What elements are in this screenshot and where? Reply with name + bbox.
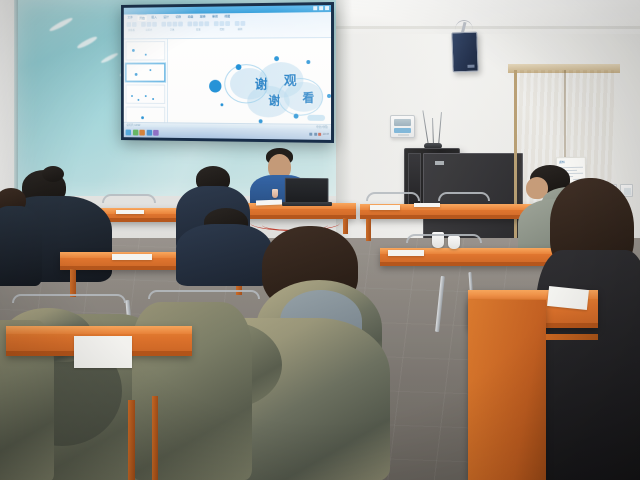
ribbon-tab-2[interactable]: 插入 <box>149 14 158 21</box>
ribbon-group-3-label: 段落 <box>196 27 200 31</box>
desk-paper-foreground <box>74 336 132 368</box>
ribbon-tab-3[interactable]: 设计 <box>161 14 170 21</box>
laptop-keyboard[interactable] <box>282 202 332 206</box>
ribbon-group-0-label: 剪贴板 <box>128 28 135 32</box>
attendee-far-left-edge <box>0 188 38 284</box>
slide-thumbnail-2[interactable] <box>126 63 166 82</box>
ribbon-group-1[interactable]: 幻灯片 <box>141 22 157 32</box>
door-notice-title: 通知 <box>559 160 565 164</box>
slide-thumbnail-3[interactable] <box>126 84 166 103</box>
thermostat-panel[interactable] <box>390 115 415 138</box>
slide-word-3: 看 <box>302 89 314 106</box>
laptop-screen[interactable] <box>285 178 329 204</box>
ribbon-groups: 剪贴板 幻灯片 字体 段落 <box>127 20 329 32</box>
ribbon-group-4[interactable]: 绘图 <box>214 21 230 31</box>
attendee-torso <box>0 206 42 286</box>
ribbon-tab-5[interactable]: 动画 <box>186 14 195 21</box>
ribbon-tab-1[interactable]: 开始 <box>138 14 147 21</box>
ceiling-edge <box>330 26 640 29</box>
ribbon-tab-7[interactable]: 审阅 <box>210 13 219 20</box>
attendee-hair-bun <box>42 166 64 182</box>
ribbon-tab-8[interactable]: 视图 <box>222 13 232 20</box>
slide-canvas[interactable]: 谢 观 谢 看 <box>168 38 331 129</box>
taskbar-system-tray[interactable]: 10:47 <box>309 133 329 136</box>
chair-row1-b[interactable] <box>368 194 418 226</box>
desk-leg <box>152 396 158 480</box>
chair-foreground-right[interactable] <box>150 292 258 332</box>
slide-word-1: 观 <box>284 70 297 89</box>
slide-thumbnail-1[interactable] <box>126 41 166 60</box>
ribbon-group-3[interactable]: 段落 <box>188 21 210 31</box>
ribbon-group-2[interactable]: 字体 <box>161 22 182 32</box>
taskbar-clock: 10:47 <box>323 133 329 136</box>
slide-footer-pill <box>307 115 325 121</box>
attendee-black-coat <box>540 178 640 480</box>
chair-row1-c[interactable] <box>440 194 488 226</box>
ribbon-group-4-label: 绘图 <box>220 27 225 31</box>
chair-foreground-left[interactable] <box>14 296 124 336</box>
slide-word-2: 谢 <box>268 92 280 109</box>
presenter-paper <box>256 200 282 206</box>
slide-thumbnail-panel[interactable] <box>124 39 168 127</box>
desk-paper <box>547 286 589 310</box>
attendee-torso <box>536 250 640 480</box>
ribbon-group-5-label: 编辑 <box>238 27 243 31</box>
taskbar-app-buttons[interactable] <box>126 129 159 135</box>
meeting-room-photo: 文件 开始 插入 设计 切换 动画 放映 审阅 视图 剪贴板 <box>0 0 640 480</box>
desk-paper <box>112 254 152 260</box>
ribbon-group-0[interactable]: 剪贴板 <box>127 22 137 32</box>
desk-leg <box>70 269 76 297</box>
slide-word-0: 谢 <box>255 74 268 93</box>
ribbon-group-5[interactable]: 编辑 <box>235 21 246 31</box>
ribbon-tabs[interactable]: 文件 开始 插入 设计 切换 动画 放映 审阅 视图 <box>126 13 232 21</box>
desk-right-foreground-panel <box>468 300 546 480</box>
ribbon-group-2-label: 字体 <box>170 27 174 31</box>
thermostat-display <box>394 119 411 126</box>
thermostat-buttons[interactable] <box>394 128 411 133</box>
projected-image: 文件 开始 插入 设计 切换 动画 放映 审阅 视图 剪贴板 <box>124 5 331 140</box>
ribbon-tab-6[interactable]: 放映 <box>198 14 207 21</box>
wall-speaker <box>451 32 478 73</box>
windows-taskbar[interactable]: 10:47 <box>124 127 331 140</box>
powerpoint-ribbon: 文件 开始 插入 设计 切换 动画 放映 审阅 视图 剪贴板 <box>124 12 331 39</box>
ribbon-tab-4[interactable]: 切换 <box>174 14 183 21</box>
projection-screen: 文件 开始 插入 设计 切换 动画 放映 审阅 视图 剪贴板 <box>121 2 334 143</box>
desk-shelf <box>546 334 598 340</box>
ribbon-tab-0[interactable]: 文件 <box>126 14 135 21</box>
window-controls[interactable] <box>313 6 329 10</box>
ribbon-group-1-label: 幻灯片 <box>146 28 153 32</box>
presenter-cup <box>272 189 278 198</box>
desk-leg <box>128 400 135 480</box>
